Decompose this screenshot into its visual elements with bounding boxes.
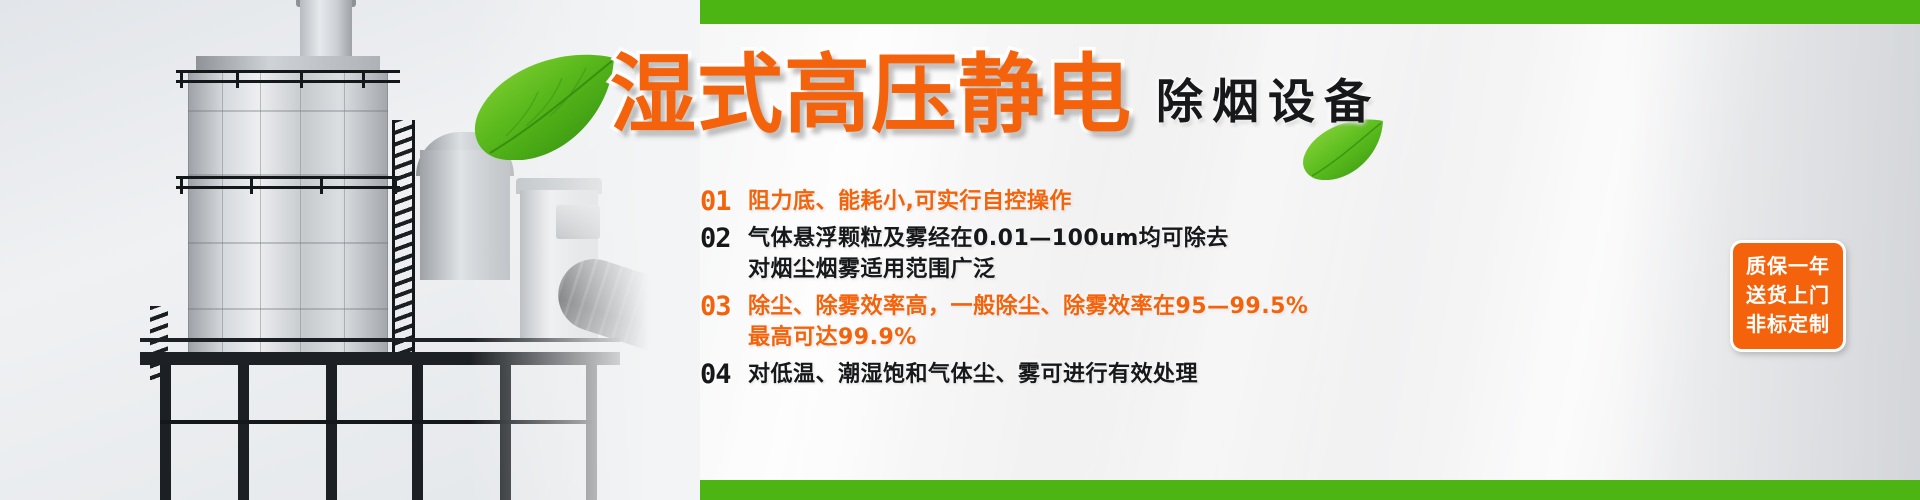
feature-line: 对低温、潮湿饱和气体尘、雾可进行有效处理 xyxy=(748,362,1198,387)
list-item: 01 阻力底、能耗小,可实行自控操作 xyxy=(700,186,1420,217)
support-leg xyxy=(238,365,249,500)
panel-seam xyxy=(260,70,261,360)
badge-line-delivery: 送货上门 xyxy=(1739,281,1837,310)
feature-line: 最高可达99.9% xyxy=(748,325,917,350)
handrail xyxy=(176,70,400,73)
rail-post xyxy=(236,70,239,88)
handrail xyxy=(176,186,400,189)
access-stair xyxy=(392,120,412,360)
green-accent-bar-top xyxy=(620,0,1920,24)
rail-post xyxy=(180,176,183,194)
feature-number: 04 xyxy=(700,359,748,390)
page-subtitle: 除烟设备 xyxy=(1156,63,1380,132)
feature-line: 除尘、除雾效率高，一般除尘、除雾效率在95—99.5% xyxy=(748,294,1308,319)
feature-list: 01 阻力底、能耗小,可实行自控操作 02 气体悬浮颗粒及雾经在0.01—100… xyxy=(700,186,1420,396)
handrail xyxy=(176,176,400,179)
support-leg xyxy=(326,365,337,500)
feature-number: 01 xyxy=(700,186,748,217)
feature-number: 02 xyxy=(700,223,748,254)
panel-seam xyxy=(300,70,301,360)
list-item: 03 除尘、除雾效率高，一般除尘、除雾效率在95—99.5% 最高可达99.9% xyxy=(700,291,1420,353)
rail-post xyxy=(180,70,183,88)
badge-line-warranty: 质保一年 xyxy=(1739,252,1837,281)
panel-seam xyxy=(188,308,388,310)
precipitator-body xyxy=(188,70,388,360)
support-leg xyxy=(412,365,423,500)
stair-rail xyxy=(392,120,395,360)
support-leg xyxy=(160,365,171,500)
feature-text: 对低温、潮湿饱和气体尘、雾可进行有效处理 xyxy=(748,359,1198,390)
panel-seam xyxy=(188,242,388,244)
promo-banner: 湿式高压静电 除烟设备 01 阻力底、能耗小,可实行自控操作 02 气体悬浮颗粒… xyxy=(0,0,1920,500)
list-item: 04 对低温、潮湿饱和气体尘、雾可进行有效处理 xyxy=(700,359,1420,390)
page-title: 湿式高压静电 xyxy=(610,52,1132,138)
feature-text: 阻力底、能耗小,可实行自控操作 xyxy=(748,186,1072,217)
leaf-icon xyxy=(470,52,620,160)
service-badge: 质保一年 送货上门 非标定制 xyxy=(1730,240,1846,352)
headline: 湿式高压静电 除烟设备 xyxy=(610,52,1380,138)
feature-line: 阻力底、能耗小,可实行自控操作 xyxy=(748,189,1072,214)
list-item: 02 气体悬浮颗粒及雾经在0.01—100um均可除去 对烟尘烟雾适用范围广泛 xyxy=(700,223,1420,285)
rail-post xyxy=(300,70,303,88)
panel-seam xyxy=(188,110,388,112)
handrail xyxy=(176,80,400,83)
feature-line: 气体悬浮颗粒及雾经在0.01—100um均可除去 xyxy=(748,226,1229,251)
rail-post xyxy=(250,176,253,194)
feature-text: 气体悬浮颗粒及雾经在0.01—100um均可除去 对烟尘烟雾适用范围广泛 xyxy=(748,223,1229,285)
badge-line-custom: 非标定制 xyxy=(1739,310,1837,339)
feature-line: 对烟尘烟雾适用范围广泛 xyxy=(748,257,996,282)
rail-post xyxy=(320,176,323,194)
feature-text: 除尘、除雾效率高，一般除尘、除雾效率在95—99.5% 最高可达99.9% xyxy=(748,291,1308,353)
green-accent-bar-bottom xyxy=(620,480,1920,500)
panel-seam xyxy=(222,70,223,360)
feature-number: 03 xyxy=(700,291,748,322)
stair-rail xyxy=(412,120,415,360)
panel-seam xyxy=(344,70,345,360)
rail-post xyxy=(362,70,365,88)
